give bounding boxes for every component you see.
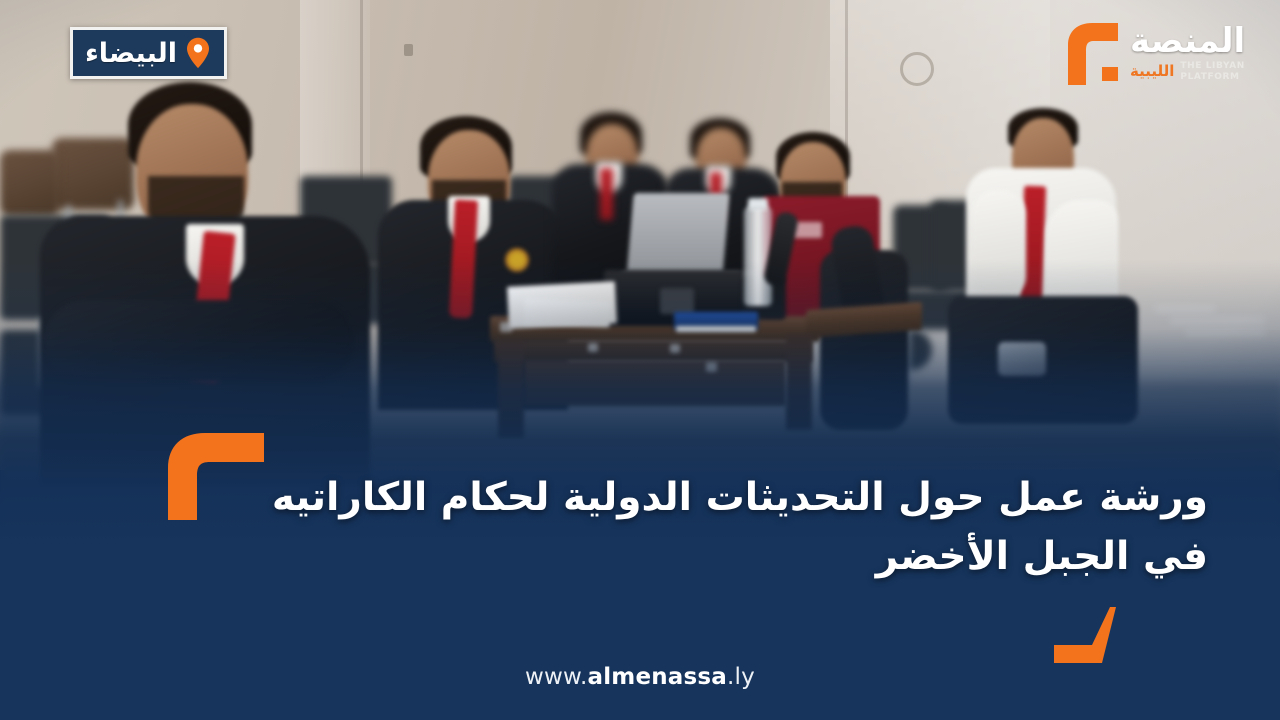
logo-arabic-name: المنصة xyxy=(1130,24,1245,58)
site-url[interactable]: www.almenassa.ly xyxy=(0,664,1280,690)
headline-line-1: ورشة عمل حول التحديثات الدولية لحكام الك… xyxy=(198,468,1208,527)
map-pin-icon xyxy=(186,37,210,69)
url-prefix: www. xyxy=(525,664,587,690)
logo-subtitle-row: THE LIBYAN PLATFORM الليبية xyxy=(1130,61,1245,82)
brand-logo[interactable]: المنصة THE LIBYAN PLATFORM الليبية xyxy=(1062,14,1258,92)
headline-line-2: في الجبل الأخضر xyxy=(198,527,1208,586)
logo-arabic-qualifier: الليبية xyxy=(1130,64,1174,79)
url-tld: .ly xyxy=(727,664,755,690)
location-label: البيضاء xyxy=(85,40,177,67)
url-brand: almenassa xyxy=(587,664,727,690)
corner-bracket-bottom-right-icon xyxy=(1054,607,1116,663)
corner-bracket-logo-icon xyxy=(1062,19,1124,87)
headline: ورشة عمل حول التحديثات الدولية لحكام الك… xyxy=(198,468,1208,587)
logo-english-name: THE LIBYAN PLATFORM xyxy=(1180,61,1245,82)
logo-wordmark: المنصة THE LIBYAN PLATFORM الليبية xyxy=(1130,24,1245,82)
news-card: البيضاء المنصة THE LIBYAN PLATFORM الليب… xyxy=(0,0,1280,720)
location-badge[interactable]: البيضاء xyxy=(70,27,227,79)
